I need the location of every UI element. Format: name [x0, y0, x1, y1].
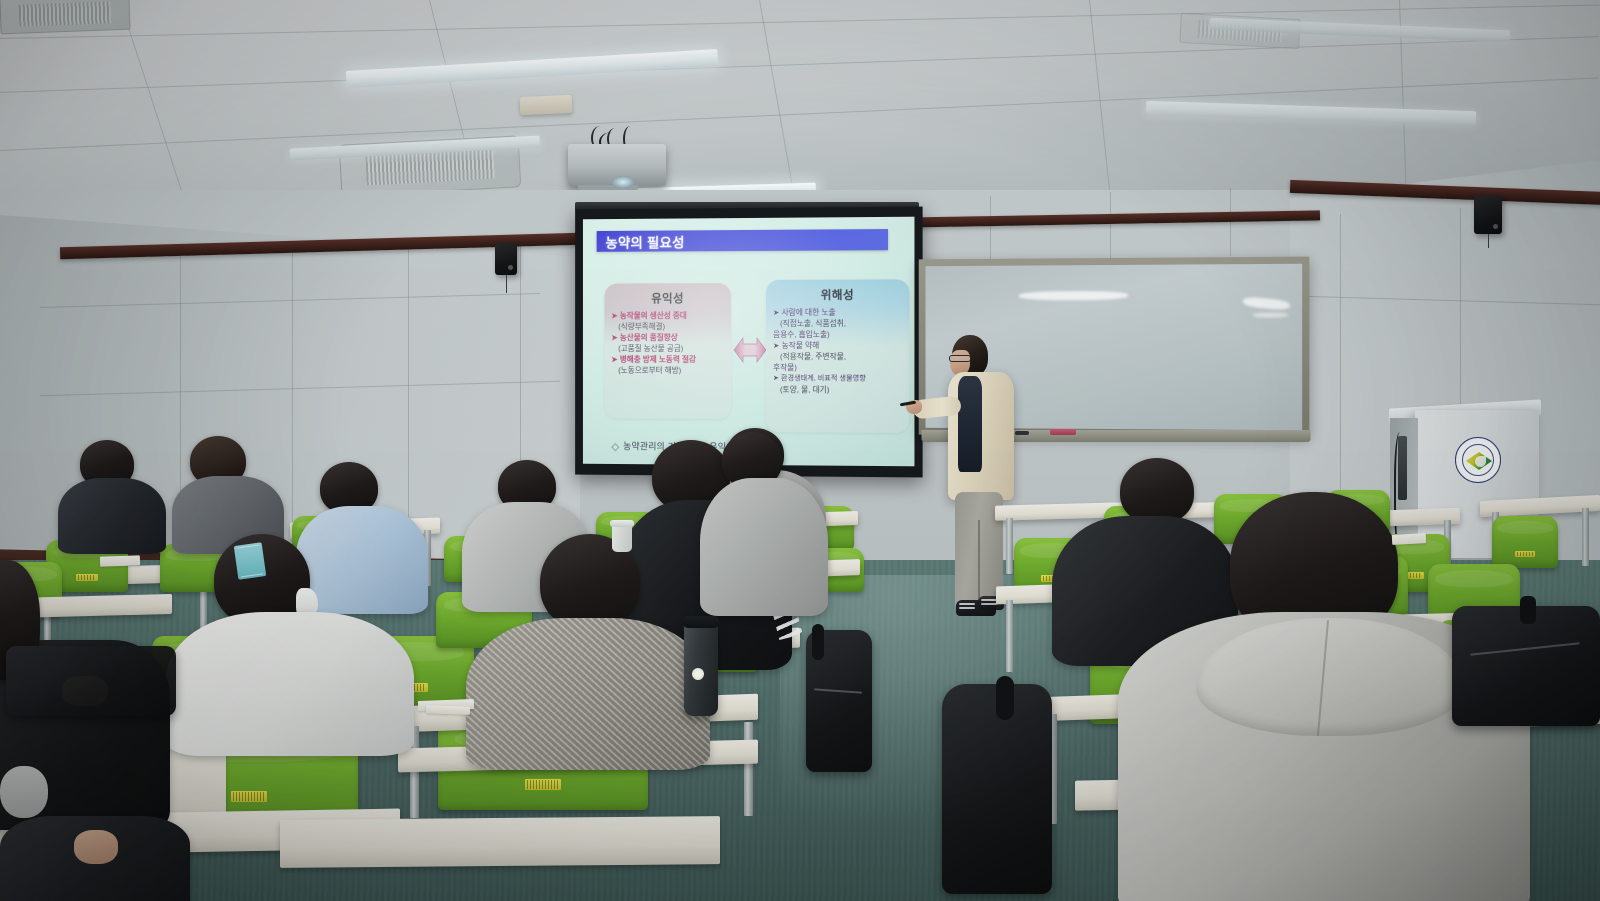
speaker-wire-right — [1488, 234, 1489, 248]
slide-panel-hazards: 위해성 ➤ 사람에 대한 노출 (직접노출, 식품섭취, 음용수, 흡입노출) … — [766, 279, 909, 433]
hair-clip — [234, 542, 266, 580]
bullet: ➤ 농작물 약해 — [773, 340, 904, 351]
bidirectional-arrow-icon — [733, 330, 767, 370]
bullet: (식량부족해결) — [611, 321, 726, 332]
wall-speaker-right — [1474, 196, 1502, 234]
lecturer-vest — [958, 376, 982, 472]
bullet: 음용수, 흡입노출) — [773, 329, 904, 340]
ceiling-light-1 — [346, 49, 718, 88]
ceiling-light-4 — [1146, 101, 1476, 125]
panel-heading-benefits: 유익성 — [604, 285, 731, 306]
seat-label — [1515, 551, 1535, 557]
wall-seam — [990, 196, 991, 260]
paper-cup-lid — [610, 520, 634, 527]
panel-heading-hazards: 위해성 — [766, 281, 909, 303]
university-seal-icon — [1455, 437, 1501, 483]
slide-title-text: 농약의 필요성 — [605, 231, 684, 251]
wall-seam — [1110, 192, 1111, 258]
papers — [426, 705, 470, 715]
wall-seam — [408, 244, 409, 544]
bullet: ➤ 병해충 방제 노동력 절감 — [611, 354, 726, 365]
hand — [74, 830, 118, 864]
seat-label — [231, 791, 267, 802]
bullet: (노동으로부터 해방) — [611, 365, 726, 376]
desk-leg — [1582, 508, 1589, 566]
lecture-hall-photo: 농약의 필요성 유익성 ➤ 농작물의 생산성 증대 (식량부족해결) ➤ 농산물… — [0, 0, 1600, 901]
papers — [100, 555, 140, 566]
desk — [280, 816, 720, 868]
tumbler-sticker — [692, 668, 704, 680]
whiteboard-glare — [1019, 291, 1128, 300]
bullet: ➤ 농산물의 품질향상 — [611, 332, 726, 343]
eyeglasses-reflection — [0, 766, 48, 818]
bullet: (직접노출, 식품섭취, — [773, 318, 904, 329]
wall-seam — [1460, 208, 1461, 408]
papers — [1392, 533, 1426, 545]
desk-leg — [1006, 600, 1013, 672]
diamond-bullet-icon — [611, 443, 619, 451]
bullet: (토양, 물, 대기) — [773, 384, 904, 396]
backpack-strap — [996, 676, 1014, 720]
backpack-strap — [812, 624, 824, 660]
bullet: (고품질 농산물 공급) — [611, 343, 726, 354]
smoke-detector — [520, 95, 573, 115]
wall-seam — [1230, 188, 1231, 256]
wall-seam — [292, 248, 293, 548]
speaker-wire-left — [506, 275, 507, 293]
wall-speaker-left — [495, 243, 517, 275]
air-vent-left — [0, 0, 131, 34]
bullet: (적용작물, 주변작물, — [773, 351, 904, 362]
tumbler-lid — [683, 616, 719, 628]
whiteboard-glare — [1242, 296, 1290, 311]
bullet: ➤ 환경생태계, 비표적 생물영향 — [773, 374, 904, 385]
paper-cup — [612, 524, 632, 552]
backpack-strap — [1520, 596, 1536, 624]
projector-lens — [612, 176, 634, 188]
desk-leg — [744, 722, 753, 816]
whiteboard-glare — [1253, 313, 1288, 318]
whiteboard-eraser — [1050, 429, 1076, 435]
bag-front-left — [6, 646, 176, 716]
slide-title-bar: 농약의 필요성 — [597, 229, 888, 252]
bullet: 후작물) — [773, 362, 904, 373]
seat-label — [525, 779, 561, 790]
bullet: ➤ 사람에 대한 노출 — [773, 307, 904, 318]
chair — [1492, 516, 1558, 568]
desk-leg — [1006, 518, 1013, 574]
seat-label — [76, 574, 98, 581]
slide-panel-benefits: 유익성 ➤ 농작물의 생산성 증대 (식량부족해결) ➤ 농산물의 품질향상 (… — [604, 283, 731, 419]
whiteboard-marker — [1015, 431, 1029, 435]
bullet: ➤ 농작물의 생산성 증대 — [611, 310, 726, 321]
glasses-icon — [949, 355, 971, 362]
wall-seam — [1340, 214, 1341, 494]
backpack-right — [1452, 606, 1600, 726]
knit-sweater — [466, 618, 710, 770]
